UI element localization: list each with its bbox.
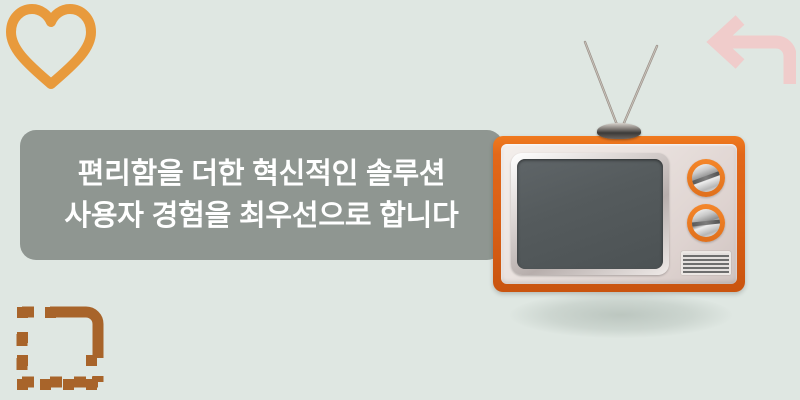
tv-knob-channel-slot: [692, 169, 720, 186]
antenna-icon: [493, 30, 745, 136]
tv-control-panel: [677, 153, 737, 277]
tv-front-panel: [501, 144, 737, 284]
tv-knob-channel[interactable]: [687, 159, 725, 197]
headline-plate: 편리함을 더한 혁신적인 솔루션 사용자 경험을 최우선으로 합니다: [20, 130, 503, 260]
antenna-base: [597, 123, 641, 139]
tv-screen: [517, 159, 663, 269]
retro-television-illustration: [493, 30, 745, 292]
heart-icon: [5, 4, 97, 92]
tv-knob-volume-slot: [692, 219, 720, 227]
headline: 편리함을 더한 혁신적인 솔루션 사용자 경험을 최우선으로 합니다: [20, 130, 503, 260]
tv-knob-volume-face: [692, 209, 720, 237]
dashed-corner-icon: [12, 302, 108, 398]
tv-speaker-grille: [681, 251, 731, 275]
tv-screen-bezel: [511, 153, 669, 275]
headline-line-1: 편리함을 더한 혁신적인 솔루션: [78, 155, 446, 193]
tv-drop-shadow: [510, 292, 732, 338]
tv-knob-channel-face: [692, 164, 720, 192]
headline-line-2: 사용자 경험을 최우선으로 합니다: [64, 197, 458, 235]
tv-cabinet: [493, 136, 745, 292]
promo-banner: 편리함을 더한 혁신적인 솔루션 사용자 경험을 최우선으로 합니다: [0, 0, 800, 400]
tv-knob-volume[interactable]: [687, 204, 725, 242]
